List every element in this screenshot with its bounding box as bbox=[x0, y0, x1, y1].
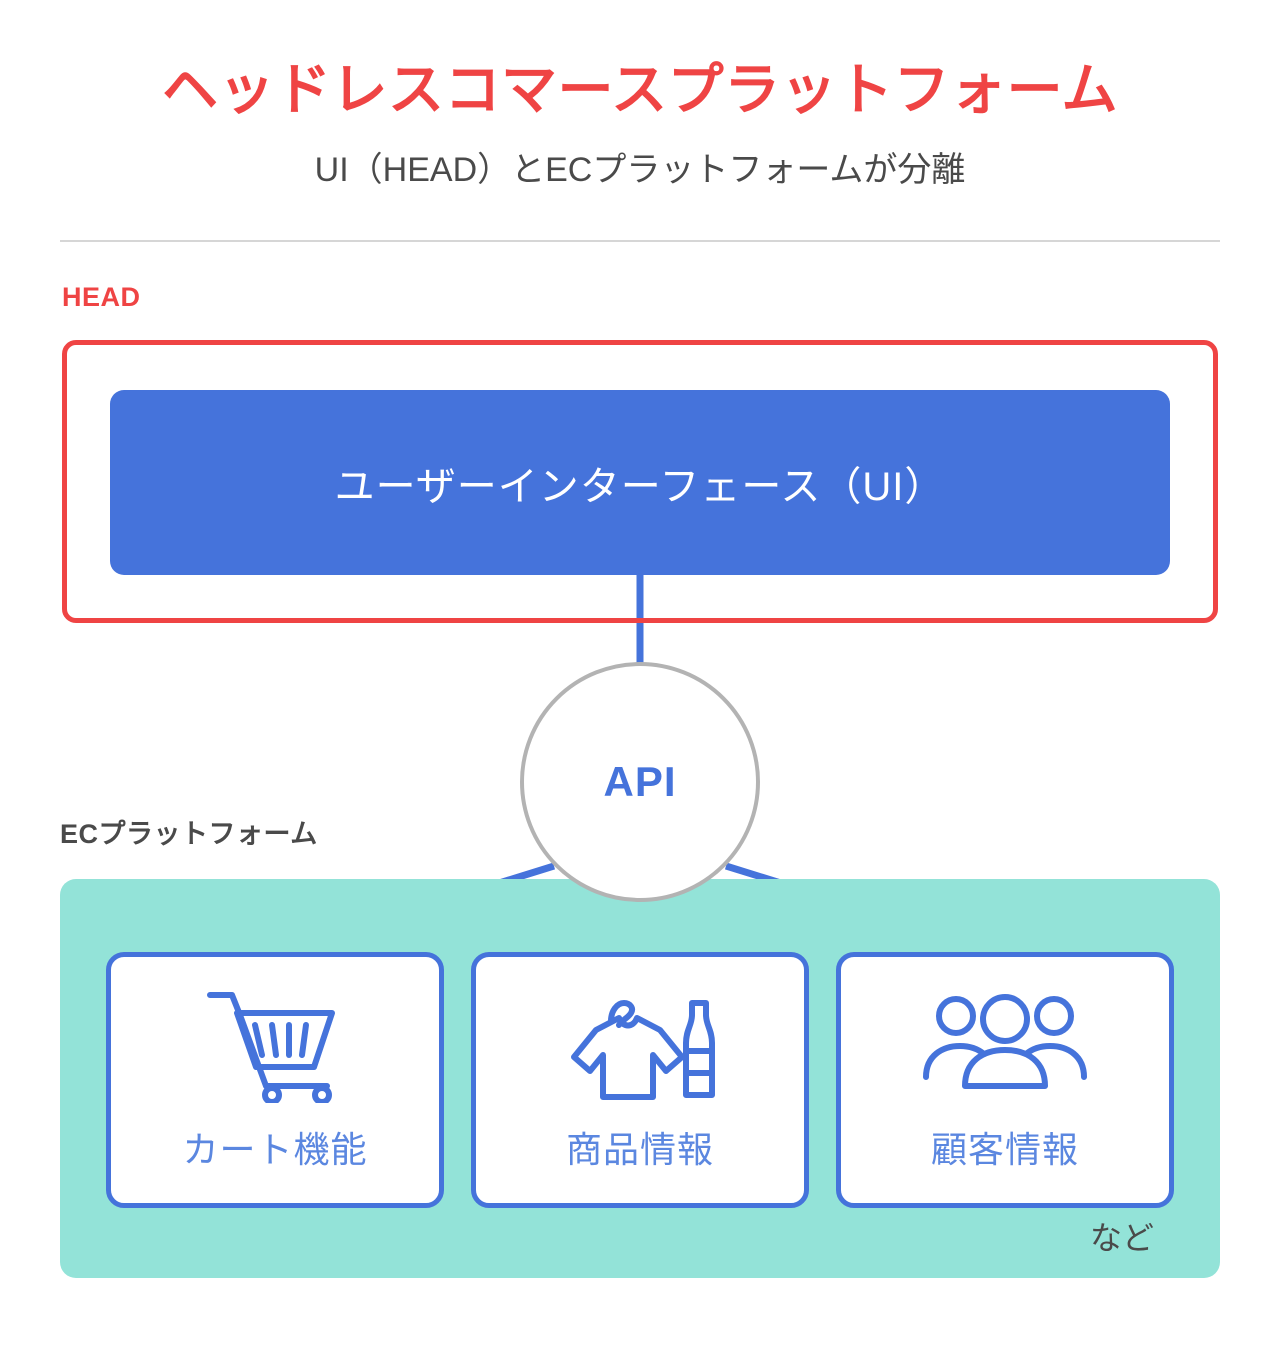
page-title: ヘッドレスコマースプラットフォーム bbox=[0, 58, 1280, 122]
people-group-icon bbox=[920, 985, 1090, 1103]
shopping-cart-icon bbox=[200, 985, 350, 1103]
ui-block: ユーザーインターフェース（UI） bbox=[110, 390, 1170, 575]
api-node: API bbox=[520, 662, 760, 902]
api-node-label: API bbox=[603, 758, 676, 806]
card-cart-function[interactable]: カート機能 bbox=[106, 952, 444, 1208]
ec-platform-label: ECプラットフォーム bbox=[60, 812, 318, 851]
ui-block-label: ユーザーインターフェース（UI） bbox=[335, 454, 946, 512]
head-section-label: HEAD bbox=[62, 282, 141, 313]
shirt-and-bottle-icon bbox=[560, 985, 720, 1103]
page-subtitle: UI（HEAD）とECプラットフォームが分離 bbox=[0, 150, 1280, 191]
card-cart-label: カート機能 bbox=[182, 1121, 367, 1173]
card-product-label: 商品情報 bbox=[566, 1121, 714, 1173]
card-product-info[interactable]: 商品情報 bbox=[471, 952, 809, 1208]
card-customer-label: 顧客情報 bbox=[931, 1121, 1079, 1173]
etc-label: など bbox=[1090, 1222, 1154, 1254]
card-customer-info[interactable]: 顧客情報 bbox=[836, 952, 1174, 1208]
header-divider bbox=[60, 240, 1220, 242]
diagram-canvas: ヘッドレスコマースプラットフォーム UI（HEAD）とECプラットフォームが分離… bbox=[0, 0, 1280, 1348]
